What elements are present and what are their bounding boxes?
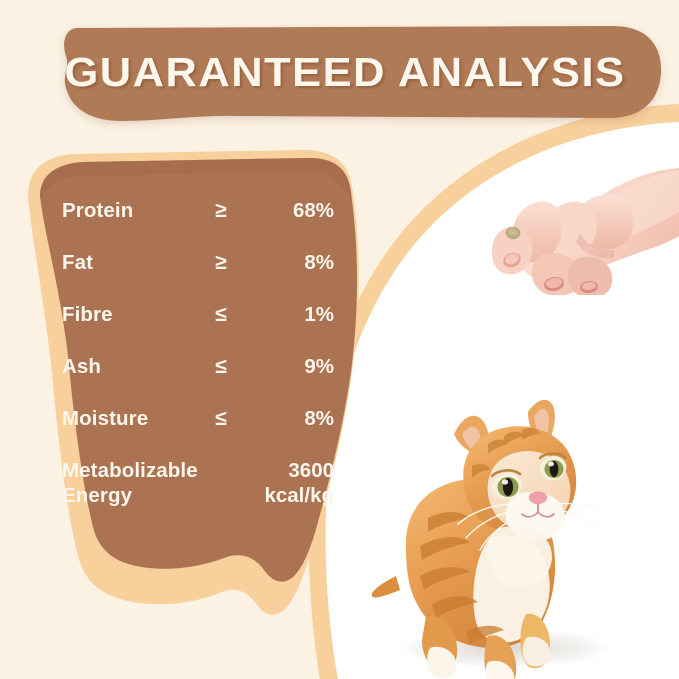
energy-label-line2: Energy xyxy=(62,484,132,507)
operator-symbol: ≤ xyxy=(208,354,234,380)
nutrient-value: 8% xyxy=(304,250,334,276)
table-row: Ash ≤ 9% xyxy=(62,354,334,406)
table-row: Moisture ≤ 8% xyxy=(62,406,334,458)
page-title: GUARANTEED ANALYSIS xyxy=(11,26,679,118)
orange-tabby-kitten-looking-up-photo xyxy=(370,400,660,679)
guaranteed-analysis-table: Protein ≥ 68% Fat ≥ 8% Fibre ≤ 1% Ash ≤ … xyxy=(62,198,334,520)
energy-label: MetabolizableEnergy xyxy=(62,458,198,508)
hand-holding-treat-photo xyxy=(488,150,679,295)
table-row: Fibre ≤ 1% xyxy=(62,302,334,354)
nutrient-value: 1% xyxy=(304,302,334,328)
nutrient-value: 8% xyxy=(304,406,334,432)
operator-symbol: ≤ xyxy=(208,406,234,432)
nutrient-label: Moisture xyxy=(62,406,148,432)
energy-value-line1: 3600 xyxy=(288,459,334,482)
cat-treat-kibble xyxy=(504,226,522,240)
energy-value: 3600kcal/kg xyxy=(264,458,334,508)
nutrient-label: Fibre xyxy=(62,302,113,328)
energy-value-line2: kcal/kg xyxy=(264,484,334,507)
nutrient-label: Protein xyxy=(62,198,133,224)
energy-label-line1: Metabolizable xyxy=(62,459,198,482)
nutrient-value: 68% xyxy=(293,198,334,224)
table-row: Fat ≥ 8% xyxy=(62,250,334,302)
operator-symbol: ≤ xyxy=(208,302,234,328)
header-banner: GUARANTEED ANALYSIS xyxy=(30,26,660,118)
nutrient-label: Fat xyxy=(62,250,93,276)
operator-symbol: ≥ xyxy=(208,250,234,276)
table-row: Protein ≥ 68% xyxy=(62,198,334,250)
product-infographic: GUARANTEED ANALYSIS Protein ≥ 68% Fat ≥ … xyxy=(0,0,679,679)
operator-symbol: ≥ xyxy=(208,198,234,224)
nutrient-label: Ash xyxy=(62,354,101,380)
table-row-energy: MetabolizableEnergy 3600kcal/kg xyxy=(62,458,334,520)
nutrient-value: 9% xyxy=(304,354,334,380)
